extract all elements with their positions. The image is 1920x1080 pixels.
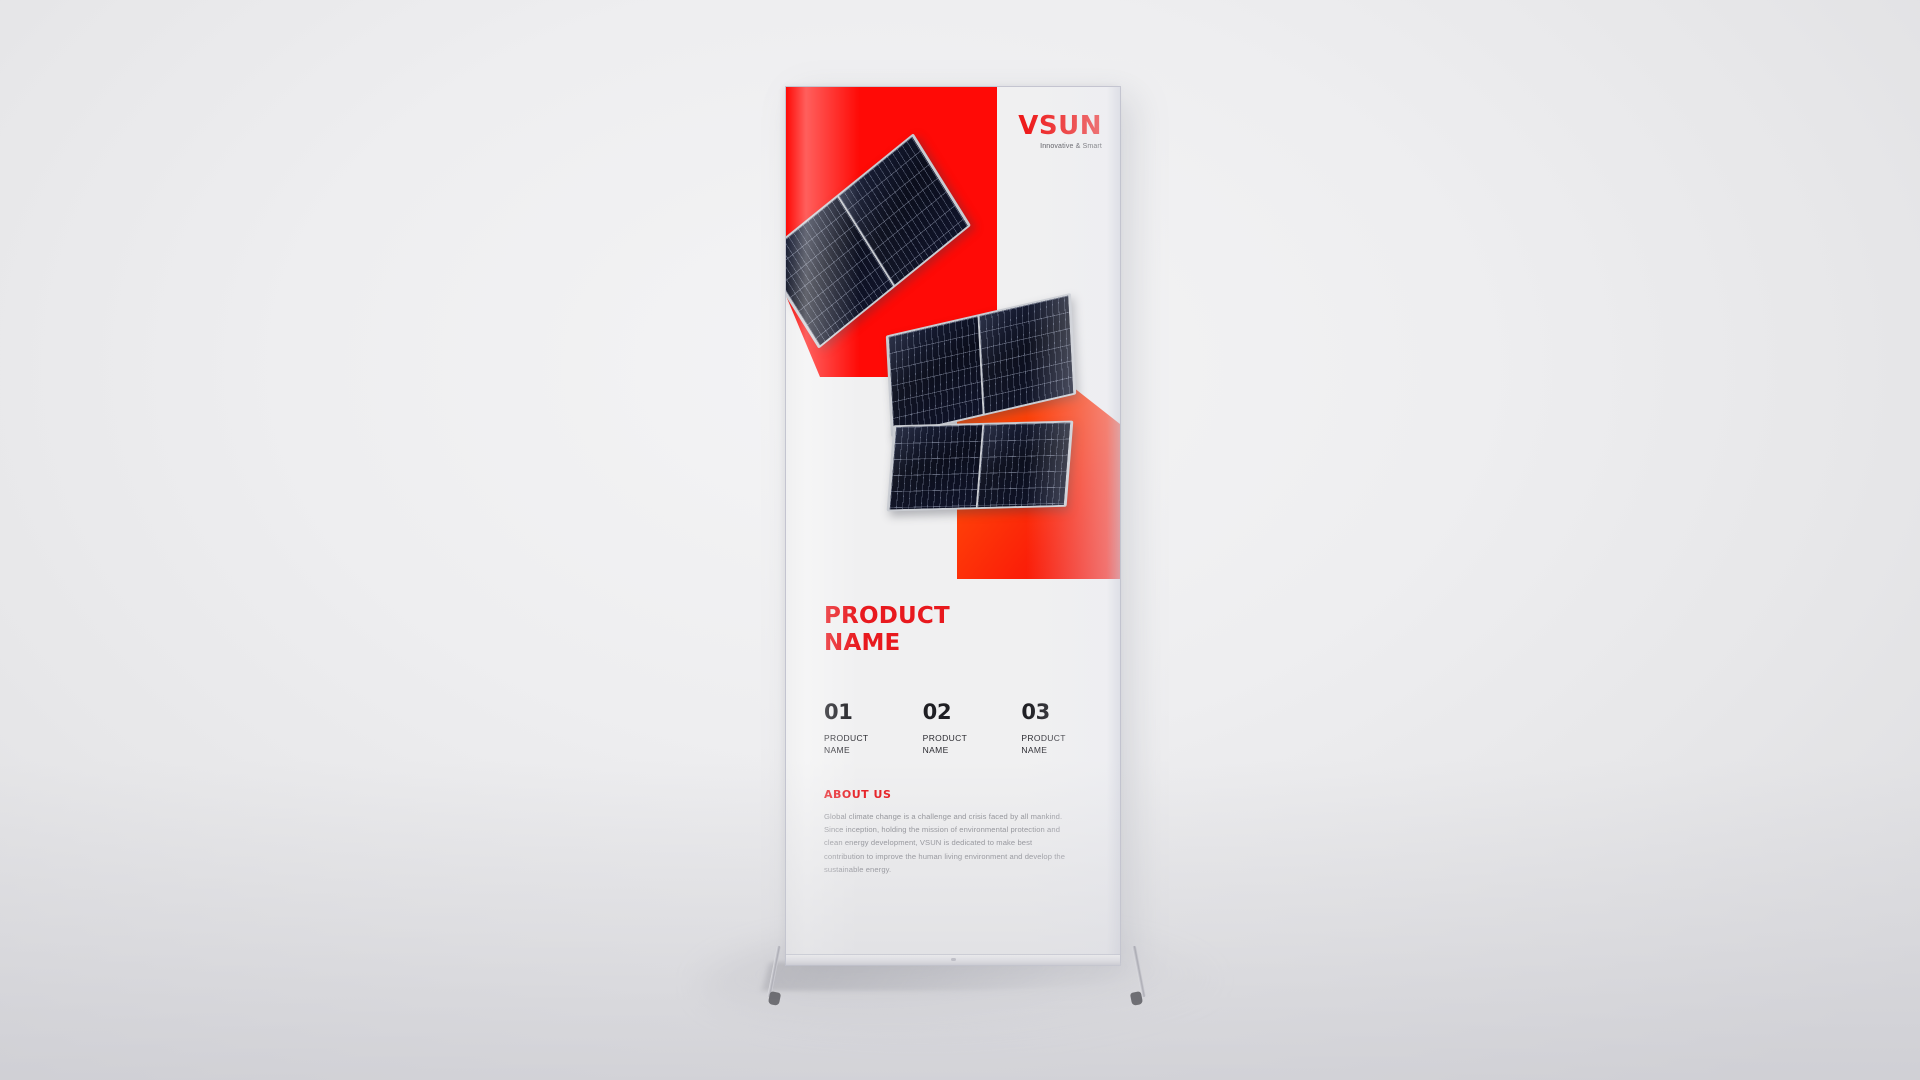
about-title: ABOUT US <box>824 788 1096 801</box>
page-title-line2: NAME <box>824 630 900 656</box>
feature-item-02: 02 PRODUCTNAME <box>923 702 998 756</box>
feature-number: 02 <box>923 702 998 723</box>
feature-list: 01 PRODUCTNAME 02 PRODUCTNAME 03 PRODUCT… <box>824 702 1096 756</box>
panel-cell-grid-right <box>979 296 1073 414</box>
page-title: PRODUCTNAME <box>824 603 974 657</box>
base-center-marker <box>951 958 956 961</box>
about-section: ABOUT US Global climate change is a chal… <box>824 788 1096 875</box>
panel-cell-grid-right <box>978 423 1070 507</box>
feature-number: 03 <box>1021 702 1096 723</box>
roll-up-banner: VSUN Innovative & Smart PRODUCTNAME 01 P… <box>786 87 1120 962</box>
banner-base-cassette <box>786 955 1120 965</box>
feature-item-01: 01 PRODUCTNAME <box>824 702 899 756</box>
studio-scene: VSUN Innovative & Smart PRODUCTNAME 01 P… <box>0 0 1920 1080</box>
feature-label: PRODUCTNAME <box>824 732 899 756</box>
panel-cell-grid-left <box>890 425 982 509</box>
logo-wordmark: VSUN <box>1018 113 1102 139</box>
banner-content: PRODUCTNAME 01 PRODUCTNAME 02 PRODUCTNAM… <box>824 603 1096 876</box>
feature-item-03: 03 PRODUCTNAME <box>1021 702 1096 756</box>
feature-label: PRODUCTNAME <box>1021 732 1096 756</box>
vsun-logo: VSUN Innovative & Smart <box>1018 113 1102 150</box>
feature-number: 01 <box>824 702 899 723</box>
stand-foot-right <box>1130 991 1143 1006</box>
panel-cell-grid-left <box>889 317 983 435</box>
page-title-line1: PRODUCT <box>824 603 950 629</box>
logo-tagline: Innovative & Smart <box>1018 143 1102 150</box>
about-body: Global climate change is a challenge and… <box>824 810 1069 875</box>
solar-panel-bottom <box>887 421 1074 512</box>
feature-label: PRODUCTNAME <box>923 732 998 756</box>
